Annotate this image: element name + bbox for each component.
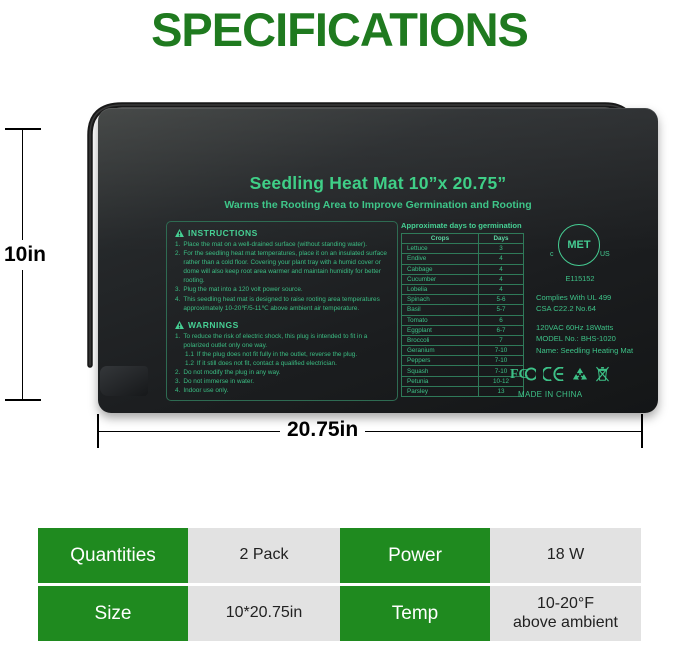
- list-item-number: 3.: [175, 285, 180, 294]
- width-dimension-label: 20.75in: [280, 418, 365, 442]
- crop-days-cell: 3: [479, 244, 524, 254]
- crop-name-cell: Petunia: [402, 376, 479, 386]
- list-item-number: 3.: [175, 377, 180, 386]
- spec-key-power: Power: [340, 528, 490, 583]
- germination-table: CropsDaysLettuce3Endive4Cabbage4Cucumber…: [401, 233, 524, 397]
- table-row: Eggplant6-7: [402, 325, 524, 335]
- crop-name-cell: Parsley: [402, 386, 479, 396]
- table-row: Geranium7-10: [402, 346, 524, 356]
- crop-name-cell: Cabbage: [402, 264, 479, 274]
- list-item-number: 2.: [175, 368, 180, 377]
- table-row: Lobelia4: [402, 284, 524, 294]
- certification-model: MODEL No.: BHS-1020: [536, 333, 656, 344]
- crop-name-cell: Broccoli: [402, 335, 479, 345]
- crop-days-cell: 7-10: [479, 356, 524, 366]
- list-item-number: 4.: [175, 386, 180, 395]
- certification-electrical: 120VAC 60Hz 18Watts: [536, 322, 656, 333]
- ce-icon: [543, 367, 565, 381]
- crop-name-cell: Geranium: [402, 346, 479, 356]
- crop-name-cell: Peppers: [402, 356, 479, 366]
- mat-product-subtitle: Warms the Rooting Area to Improve Germin…: [98, 199, 658, 211]
- spec-value-temp: 10-20°F above ambient: [490, 586, 641, 641]
- list-item-text: If it still does not fit, contact a qual…: [197, 359, 390, 368]
- met-logo-text: MET: [558, 224, 600, 266]
- list-item-text: Plug the mat into a 120 volt power sourc…: [183, 285, 390, 294]
- germination-table-caption: Approximate days to germination: [401, 221, 529, 230]
- instructions-warnings-panel: INSTRUCTIONS 1.Place the mat on a well-d…: [166, 221, 398, 401]
- certification-csa: CSA C22.2 No.64: [536, 303, 656, 314]
- crop-days-cell: 7-10: [479, 346, 524, 356]
- cord-entry-tab: [100, 366, 148, 396]
- crop-name-cell: Endive: [402, 254, 479, 264]
- table-header-row: CropsDays: [402, 234, 524, 244]
- list-item-text: This seedling heat mat is designed to ra…: [183, 295, 390, 313]
- list-item-number: 1.: [175, 240, 180, 249]
- crop-days-cell: 7: [479, 335, 524, 345]
- height-dimension-cap-top: [5, 128, 41, 130]
- list-item-text: Place the mat on a well-drained surface …: [183, 240, 390, 249]
- instructions-list: 1.Place the mat on a well-drained surfac…: [175, 240, 390, 313]
- warnings-list: 1.To reduce the risk of electric shock, …: [175, 332, 390, 396]
- crop-days-cell: 6: [479, 315, 524, 325]
- list-item-text: Do not modify the plug in any way.: [183, 368, 390, 377]
- table-row: Petunia10-12: [402, 376, 524, 386]
- crop-name-cell: Cucumber: [402, 274, 479, 284]
- table-row: Parsley13: [402, 386, 524, 396]
- heat-mat-body: Seedling Heat Mat 10”x 20.75” Warms the …: [98, 108, 658, 413]
- instructions-heading: INSTRUCTIONS: [175, 228, 390, 238]
- height-dimension-label: 10in: [0, 240, 50, 270]
- met-mark-left: c: [550, 251, 554, 258]
- list-item: 2.Do not modify the plug in any way.: [175, 368, 390, 377]
- crop-days-cell: 4: [479, 284, 524, 294]
- mat-product-title: Seedling Heat Mat 10”x 20.75”: [98, 173, 658, 194]
- certification-name: Name: Seedling Heating Mat: [536, 345, 656, 356]
- list-item: 1.Place the mat on a well-drained surfac…: [175, 240, 390, 249]
- table-row: Cucumber4: [402, 274, 524, 284]
- table-row: Endive4: [402, 254, 524, 264]
- warnings-heading: WARNINGS: [175, 320, 390, 330]
- crop-days-cell: 4: [479, 264, 524, 274]
- table-header-cell: Crops: [402, 234, 479, 244]
- table-row: Basil5-7: [402, 305, 524, 315]
- list-item-number: 1.: [175, 332, 180, 350]
- crop-days-cell: 6-7: [479, 325, 524, 335]
- crop-name-cell: Basil: [402, 305, 479, 315]
- spec-value-size: 10*20.75in: [188, 586, 340, 641]
- height-dimension-cap-bottom: [5, 399, 41, 401]
- list-item-text: For the seedling heat mat temperatures, …: [183, 249, 390, 285]
- crop-days-cell: 5-6: [479, 295, 524, 305]
- crop-name-cell: Lobelia: [402, 284, 479, 294]
- table-row: Tomato6: [402, 315, 524, 325]
- spec-value-quantities: 2 Pack: [188, 528, 340, 583]
- table-row: Spinach5-6: [402, 295, 524, 305]
- crop-name-cell: Tomato: [402, 315, 479, 325]
- warnings-heading-label: WARNINGS: [188, 320, 239, 330]
- table-row: Broccoli7: [402, 335, 524, 345]
- crop-name-cell: Spinach: [402, 295, 479, 305]
- spec-value-power: 18 W: [490, 528, 641, 583]
- met-mark: MET c US: [536, 224, 656, 272]
- spec-key-size: Size: [38, 586, 188, 641]
- warning-triangle-icon: [175, 321, 184, 329]
- crop-days-cell: 13: [479, 386, 524, 396]
- certification-complies: Complies With UL 499: [536, 292, 656, 303]
- compliance-icon-row: FC: [510, 366, 610, 382]
- crop-name-cell: Lettuce: [402, 244, 479, 254]
- crop-name-cell: Squash: [402, 366, 479, 376]
- list-item: 1.To reduce the risk of electric shock, …: [175, 332, 390, 350]
- list-item-number: 4.: [175, 295, 180, 313]
- warning-triangle-icon: [175, 229, 184, 237]
- made-in-label: MADE IN CHINA: [518, 390, 582, 399]
- certification-block: MET c US E115152 Complies With UL 499 CS…: [536, 224, 656, 356]
- list-item-number: 1.2: [185, 359, 194, 368]
- crop-name-cell: Eggplant: [402, 325, 479, 335]
- certification-file-number: E115152: [536, 274, 624, 283]
- table-row: Cabbage4: [402, 264, 524, 274]
- crop-days-cell: 4: [479, 274, 524, 284]
- spec-key-quantities: Quantities: [38, 528, 188, 583]
- table-row: Squash7-10: [402, 366, 524, 376]
- met-mark-right: US: [600, 251, 610, 258]
- list-item: 1.1If the plug does not fit fully in the…: [175, 350, 390, 359]
- product-image: Seedling Heat Mat 10”x 20.75” Warms the …: [60, 75, 660, 420]
- list-item-number: 2.: [175, 249, 180, 285]
- list-item: 4.Indoor use only.: [175, 386, 390, 395]
- cert-spacer: [536, 315, 656, 322]
- list-item-number: 1.1: [185, 350, 194, 359]
- spec-key-temp: Temp: [340, 586, 490, 641]
- list-item: 3.Plug the mat into a 120 volt power sou…: [175, 285, 390, 294]
- list-item-text: To reduce the risk of electric shock, th…: [183, 332, 390, 350]
- list-item: 3.Do not immerse in water.: [175, 377, 390, 386]
- list-item-text: Do not immerse in water.: [183, 377, 390, 386]
- list-item: 2.For the seedling heat mat temperatures…: [175, 249, 390, 285]
- instructions-heading-label: INSTRUCTIONS: [188, 228, 258, 238]
- table-row: Lettuce3: [402, 244, 524, 254]
- fcc-icon: FC: [510, 367, 536, 381]
- page-title: SPECIFICATIONS: [0, 2, 679, 57]
- table-row: Peppers7-10: [402, 356, 524, 366]
- list-item-text: If the plug does not fit fully in the ou…: [197, 350, 390, 359]
- crop-days-cell: 4: [479, 254, 524, 264]
- recycle-icon: [572, 367, 588, 382]
- width-dimension-line: [97, 431, 643, 432]
- crop-days-cell: 5-7: [479, 305, 524, 315]
- list-item: 4.This seedling heat mat is designed to …: [175, 295, 390, 313]
- weee-crossed-bin-icon: [595, 366, 610, 382]
- table-header-cell: Days: [479, 234, 524, 244]
- list-item: 1.2If it still does not fit, contact a q…: [175, 359, 390, 368]
- list-item-text: Indoor use only.: [183, 386, 390, 395]
- spec-summary-table: Quantities 2 Pack Power 18 W Size 10*20.…: [38, 528, 641, 641]
